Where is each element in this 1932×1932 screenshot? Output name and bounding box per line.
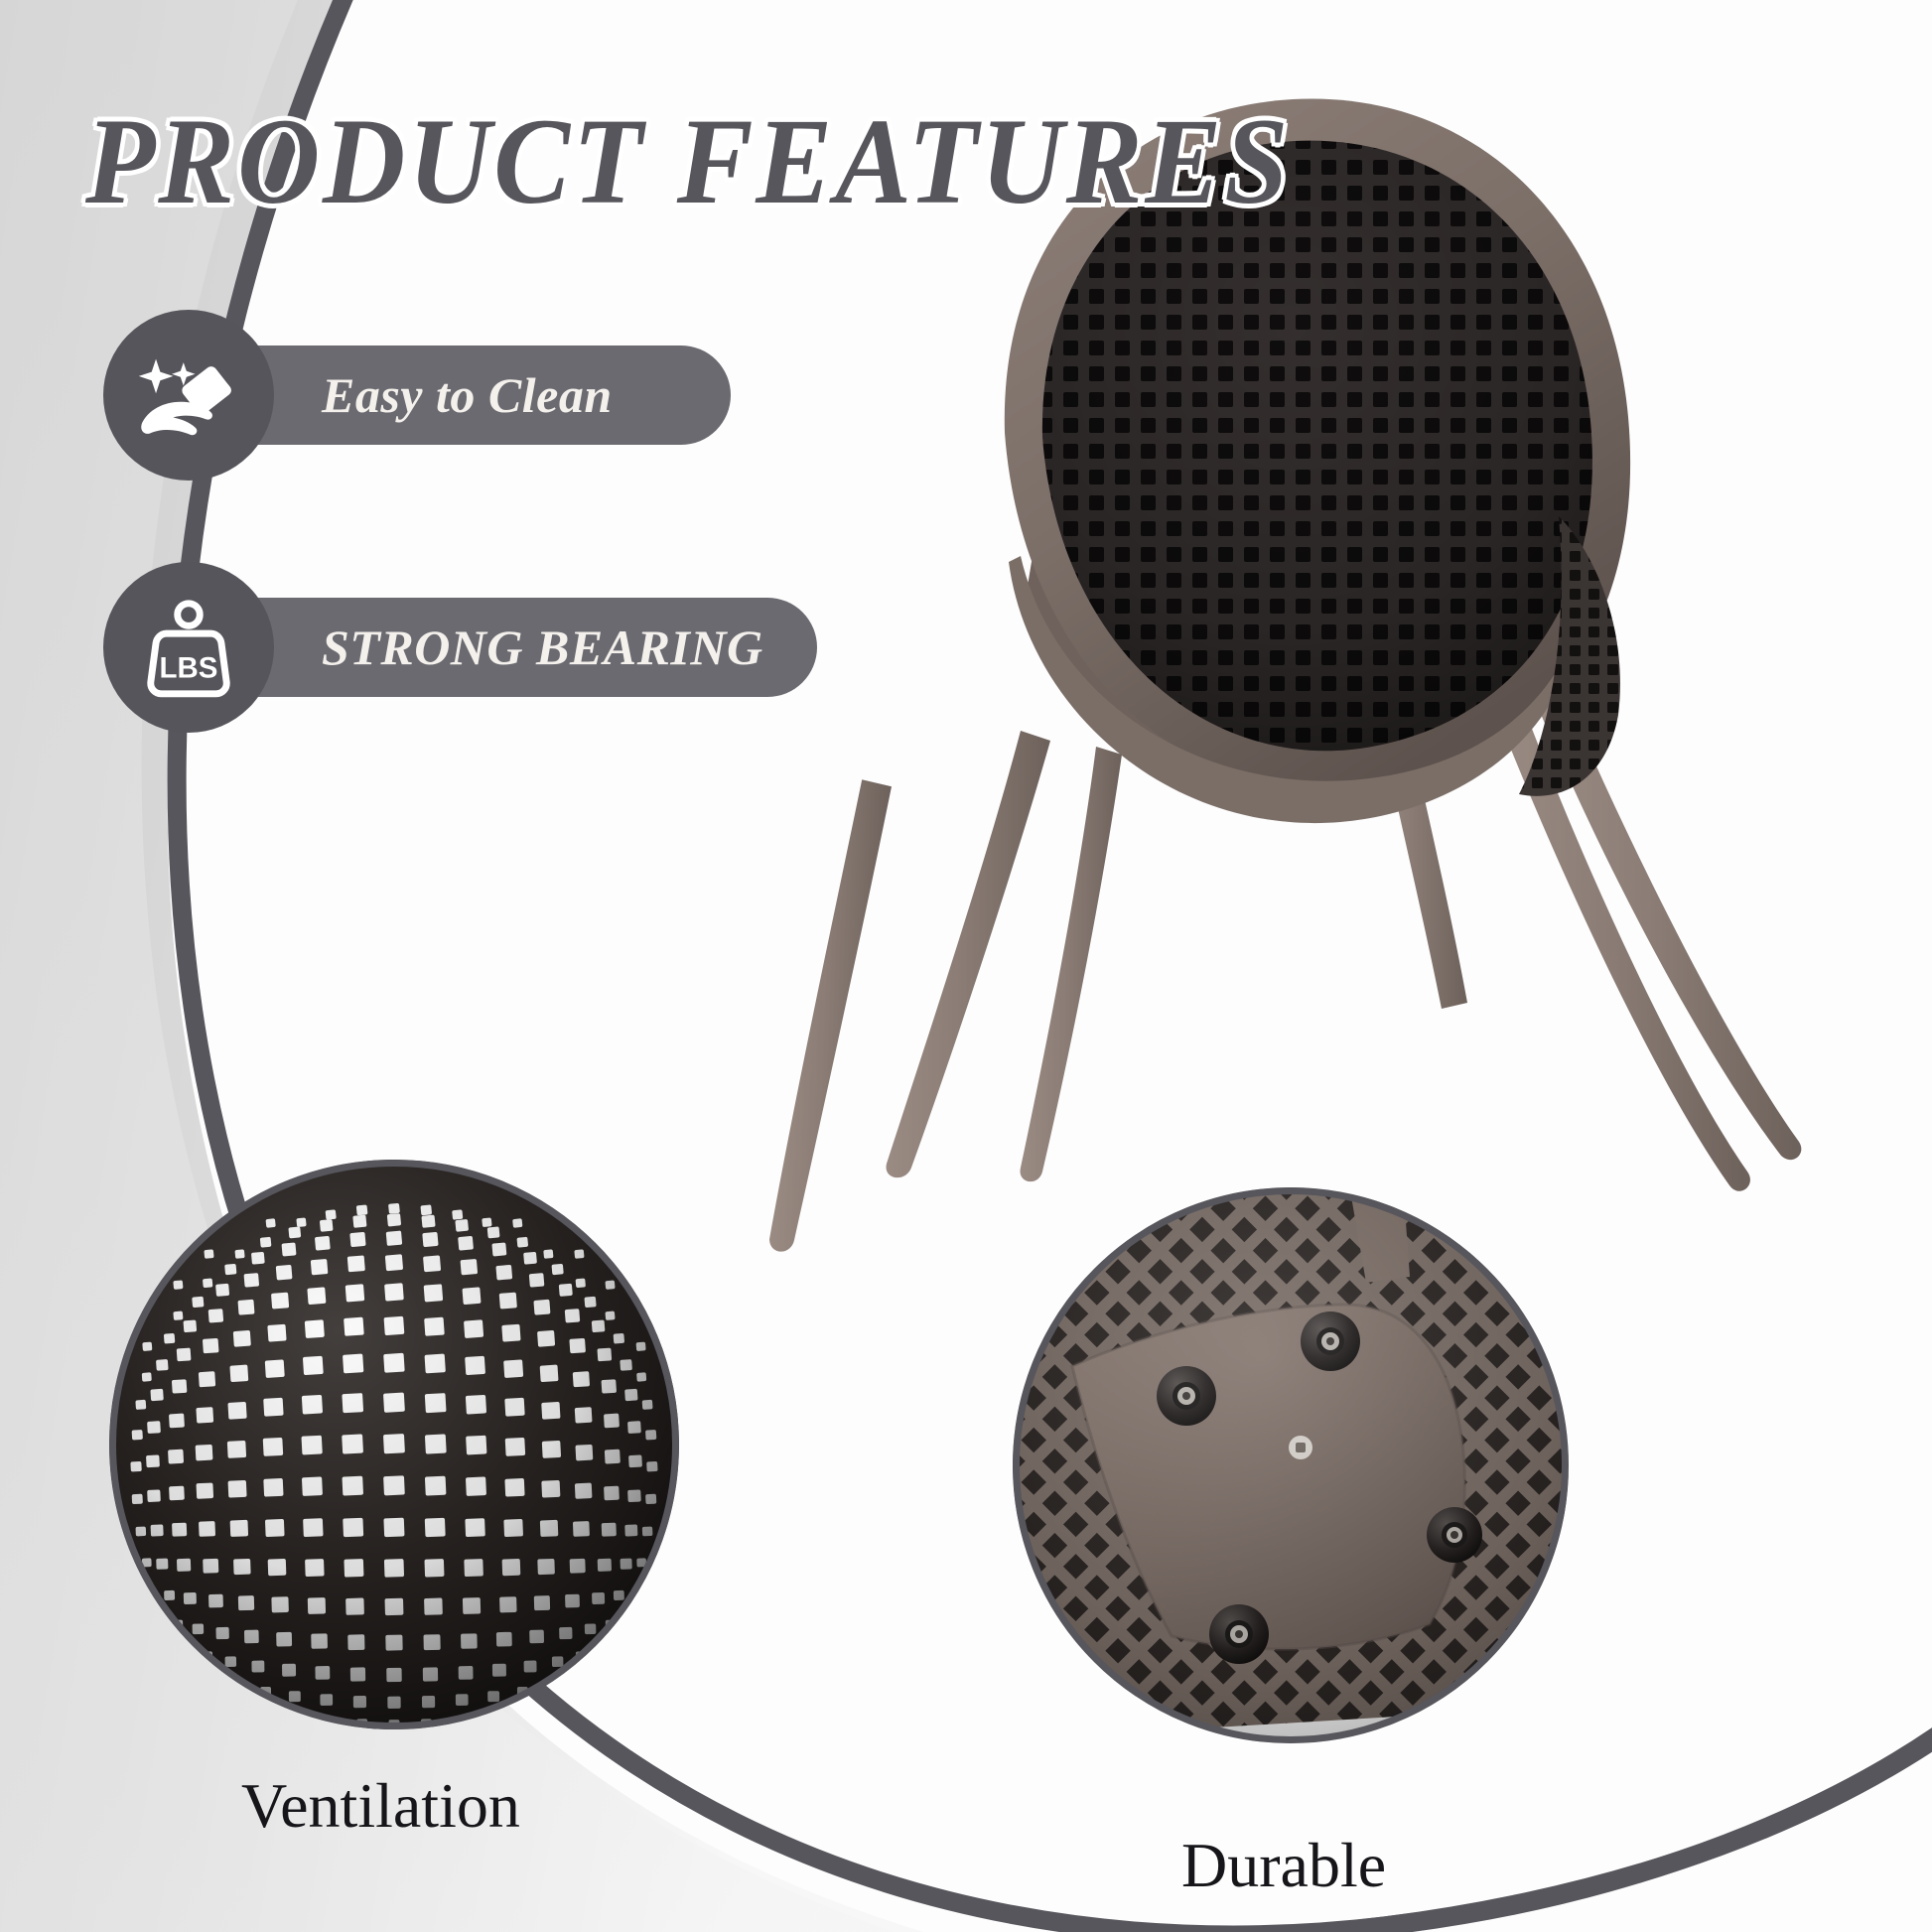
product-chair-image — [769, 98, 1802, 1254]
chair-leg-left — [887, 731, 1050, 1177]
sparkle-sponge-glyph — [137, 344, 240, 447]
feature-label: Easy to Clean — [322, 366, 613, 424]
feature-label: STRONG BEARING — [322, 619, 763, 676]
feature-pill: STRONG BEARING — [189, 598, 817, 697]
sparkle-sponge-icon — [103, 310, 274, 481]
chair-leg-left-front — [769, 777, 893, 1255]
chair-leg-center — [1021, 747, 1122, 1181]
detail-circle-durable — [1013, 1187, 1569, 1743]
infographic-canvas: PRODUCT FEATURES Easy to Clean — [0, 0, 1932, 1932]
lbs-text: LBS — [160, 651, 218, 684]
weight-lbs-icon: LBS — [103, 562, 274, 733]
detail-circle-ventilation — [109, 1160, 679, 1729]
ventilation-mesh-image — [109, 1160, 679, 1729]
caption-ventilation: Ventilation — [241, 1769, 520, 1843]
durable-underside-image — [1013, 1187, 1569, 1743]
weight-lbs-glyph: LBS — [137, 596, 240, 699]
page-title: PRODUCT FEATURES — [85, 91, 1291, 232]
caption-durable: Durable — [1181, 1829, 1386, 1902]
